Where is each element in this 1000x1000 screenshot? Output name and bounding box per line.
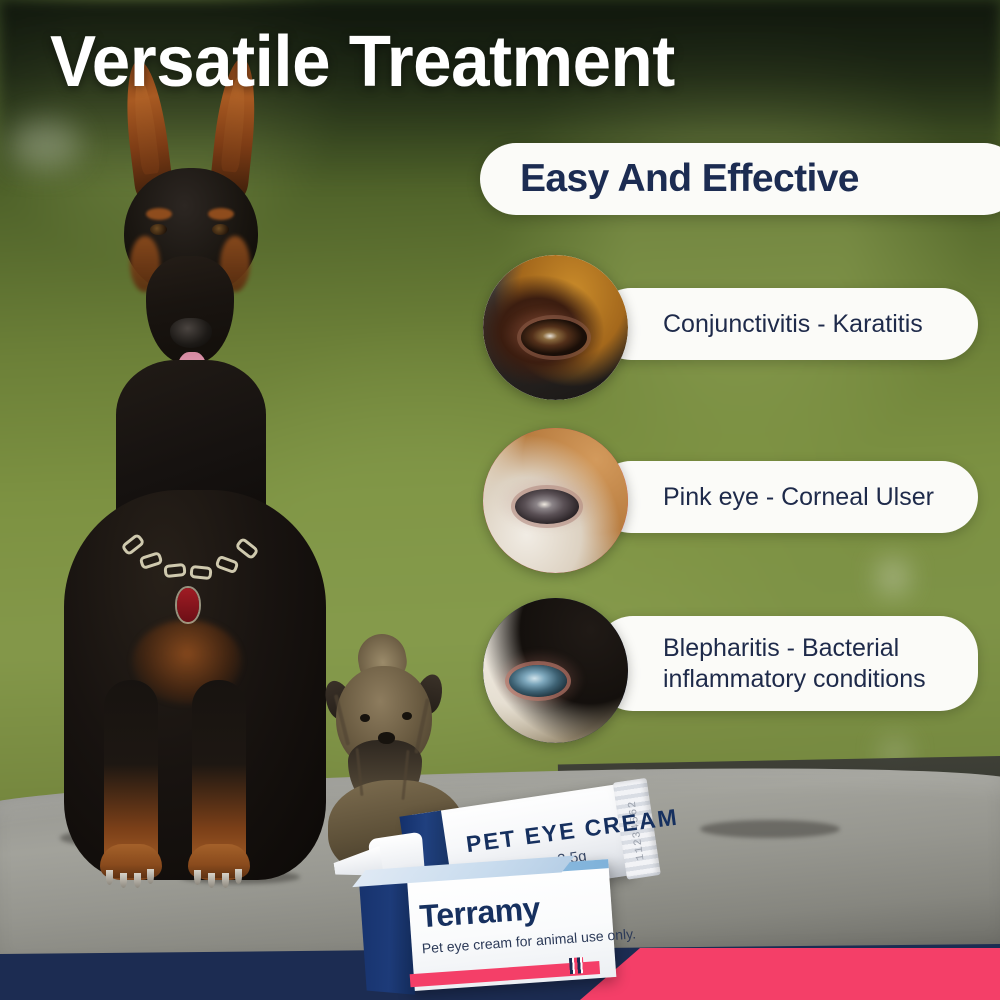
doberman-paw-right bbox=[188, 844, 250, 878]
feature-label-3-line2: inflammatory conditions bbox=[663, 664, 926, 695]
doberman-eye-left bbox=[150, 224, 167, 235]
product-package: 11234562 PET EYE CREAM 3.5g Terramy Pet … bbox=[355, 815, 685, 1000]
subtitle-text: Easy And Effective bbox=[520, 157, 859, 201]
feature-label-3-line1: Blepharitis - Bacterial bbox=[663, 633, 926, 664]
doberman-brow-right bbox=[208, 208, 234, 220]
feature-label-pill-2: Pink eye - Corneal Ulser bbox=[595, 461, 978, 533]
feature-image-3 bbox=[483, 598, 628, 743]
ledge-texture-3 bbox=[700, 820, 840, 838]
feature-label-2: Pink eye - Corneal Ulser bbox=[663, 482, 934, 513]
feature-label-pill-3: Blepharitis - Bacterial inflammatory con… bbox=[595, 616, 978, 711]
subtitle-pill: Easy And Effective bbox=[480, 143, 1000, 215]
feature-row-blepharitis: Blepharitis - Bacterial inflammatory con… bbox=[483, 598, 983, 748]
carton-side-panel bbox=[359, 879, 415, 995]
feature-image-1 bbox=[483, 255, 628, 400]
doberman-eye-right bbox=[212, 224, 229, 235]
doberman-chain-collar bbox=[124, 530, 252, 578]
white-dark-eye-photo bbox=[483, 598, 628, 743]
carton-color-ticks bbox=[569, 957, 584, 974]
feature-image-2 bbox=[483, 428, 628, 573]
feature-label-1: Conjunctivitis - Karatitis bbox=[663, 309, 923, 340]
tan-animal-eye-photo bbox=[483, 428, 628, 573]
feature-label-3: Blepharitis - Bacterial inflammatory con… bbox=[663, 633, 926, 694]
feature-row-conjunctivitis: Conjunctivitis - Karatitis bbox=[483, 255, 983, 405]
yorkie-eye-left bbox=[360, 714, 370, 722]
yorkie-nose bbox=[378, 732, 395, 744]
page-title: Versatile Treatment bbox=[50, 26, 933, 98]
product-carton: Terramy Pet eye cream for animal use onl… bbox=[351, 859, 617, 999]
promo-banner: Versatile Treatment Easy And Effective C… bbox=[0, 0, 1000, 1000]
feature-row-pink-eye: Pink eye - Corneal Ulser bbox=[483, 428, 983, 578]
feature-label-pill-1: Conjunctivitis - Karatitis bbox=[595, 288, 978, 360]
dark-dog-eye-photo bbox=[483, 255, 628, 400]
yorkie-eye-right bbox=[402, 712, 412, 720]
doberman-collar-tag bbox=[177, 588, 199, 622]
doberman-brow-left bbox=[146, 208, 172, 220]
doberman-paw-left bbox=[100, 844, 162, 878]
